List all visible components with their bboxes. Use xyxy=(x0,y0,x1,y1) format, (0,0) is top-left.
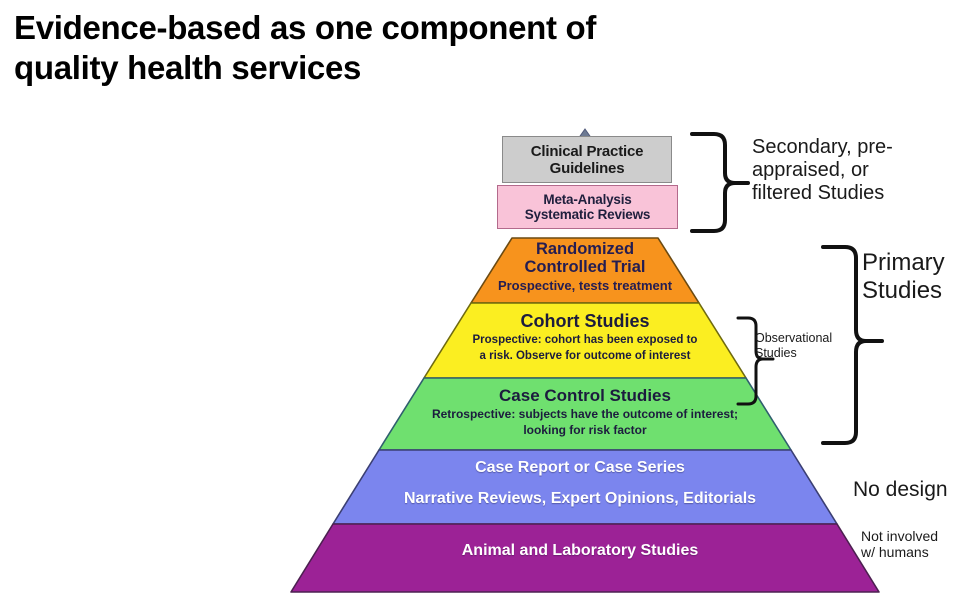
level-title-second-line: Systematic Reviews xyxy=(525,207,650,222)
annotation-line-1: Secondary, pre- xyxy=(752,136,967,159)
pyramid-level-clinical-practice-guidelines[interactable]: Clinical Practice Guidelines xyxy=(502,136,672,183)
brace-secondary-studies xyxy=(692,134,735,231)
evidence-pyramid-figure: Clinical Practice Guidelines Meta-Analys… xyxy=(0,0,971,609)
level-title: Meta-Analysis xyxy=(543,192,631,207)
annotation-primary-studies: Primary Studies xyxy=(862,249,971,305)
annotation-secondary-studies: Secondary, pre- appraised, or filtered S… xyxy=(752,136,967,206)
annotation-line-2: w/ humans xyxy=(861,544,971,560)
pyramid-band-cohort-studies xyxy=(424,303,746,378)
annotation-line-1: Primary xyxy=(862,249,971,277)
pyramid-level-meta-analysis-systematic-reviews[interactable]: Meta-Analysis Systematic Reviews xyxy=(497,185,678,229)
pyramid-band-case-report-or-case-series xyxy=(333,450,837,524)
pyramid-band-randomized-controlled-trial xyxy=(471,238,699,303)
pyramid-band-case-control-studies xyxy=(379,378,791,450)
annotation-line-1: Observational xyxy=(755,331,865,346)
annotation-line-1: Not involved xyxy=(861,528,971,544)
annotation-line-2: Studies xyxy=(862,277,971,305)
annotation-line-1: No design xyxy=(853,478,971,502)
annotation-not-involved-with-humans: Not involved w/ humans xyxy=(861,528,971,560)
annotation-observational-studies: Observational Studies xyxy=(755,331,865,360)
level-title: Clinical Practice xyxy=(531,143,644,160)
annotation-line-2: appraised, or xyxy=(752,159,967,182)
annotation-line-2: Studies xyxy=(755,346,865,361)
level-title-second-line: Guidelines xyxy=(550,160,625,177)
annotation-no-design: No design xyxy=(853,478,971,502)
pyramid-diagram xyxy=(0,0,971,609)
annotation-line-3: filtered Studies xyxy=(752,182,967,205)
pyramid-band-animal-and-laboratory-studies xyxy=(291,524,879,592)
